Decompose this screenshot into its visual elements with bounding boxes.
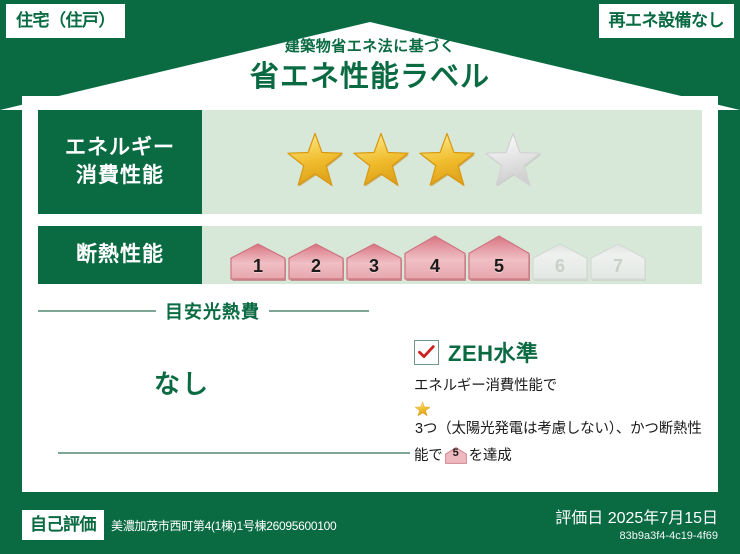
- insulation-performance-label: 断熱性能: [38, 226, 202, 284]
- utility-cost-caption: 目安光熱費: [165, 298, 260, 324]
- energy-performance-row: エネルギー 消費性能: [38, 110, 702, 214]
- inline-house-badge: 5: [445, 447, 467, 464]
- page-title: 省エネ性能ラベル: [0, 59, 740, 95]
- insulation-scale: 1234567: [230, 235, 646, 281]
- check-icon: [418, 345, 435, 359]
- self-evaluation-badge: 自己評価: [22, 510, 104, 540]
- title-subtitle: 建築物省エネ法に基づく: [0, 38, 740, 56]
- utility-cost-header: 目安光熱費: [38, 298, 406, 324]
- tag-building-type: 住宅（住戸）: [6, 4, 125, 38]
- checkbox-checked: [414, 340, 439, 365]
- zeh-description: エネルギー消費性能で3つ（太陽光発電は考慮しない）、かつ断熱性能で5を達成: [414, 375, 706, 468]
- insulation-level-number: 2: [311, 256, 321, 281]
- inline-house-number: 5: [445, 445, 467, 463]
- evaluation-date: 評価日 2025年7月15日: [555, 504, 718, 528]
- rule-right: [269, 310, 369, 312]
- insulation-level-number: 4: [430, 256, 440, 281]
- energy-performance-label: エネルギー 消費性能: [38, 110, 202, 214]
- insulation-level-4: 4: [404, 235, 466, 281]
- star-filled-icon: [416, 131, 478, 193]
- insulation-level-number: 1: [253, 256, 263, 281]
- energy-label-line1: エネルギー: [65, 134, 175, 162]
- zeh-header: ZEH水準: [414, 336, 706, 368]
- tag-renewable-energy: 再エネ設備なし: [599, 4, 735, 38]
- insulation-performance-row: 断熱性能 1234567: [38, 226, 702, 284]
- zeh-desc-part2: 3つ（太陽光発電: [415, 421, 523, 437]
- footer-right: 評価日 2025年7月15日 83b9a3f4-4c19-4f69: [555, 504, 718, 542]
- insulation-level-number: 5: [494, 256, 504, 281]
- evaluation-id: 83b9a3f4-4c19-4f69: [555, 530, 718, 542]
- insulation-level-number: 6: [555, 256, 565, 281]
- star-empty-icon: [482, 131, 544, 193]
- title-block: 建築物省エネ法に基づく 省エネ性能ラベル: [0, 38, 740, 95]
- utility-cost-value: なし: [38, 364, 406, 401]
- zeh-section: ZEH水準 エネルギー消費性能で3つ（太陽光発電は考慮しない）、かつ断熱性能で5…: [414, 336, 706, 468]
- inline-star-icon: [414, 401, 706, 418]
- energy-label-line2: 消費性能: [76, 162, 164, 190]
- insulation-level-1: 1: [230, 243, 286, 281]
- energy-performance-label: 住宅（住戸） 再エネ設備なし 建築物省エネ法に基づく 省エネ性能ラベル エネルギ…: [0, 0, 740, 554]
- star-filled-icon: [284, 131, 346, 193]
- insulation-scale-body: 1234567: [202, 226, 702, 284]
- rule-left: [38, 310, 156, 312]
- insulation-level-6: 6: [532, 243, 588, 281]
- utility-cost-section: 目安光熱費 なし: [38, 294, 406, 478]
- insulation-label-text: 断熱性能: [76, 241, 164, 268]
- zeh-desc-part4: を達成: [469, 448, 512, 464]
- insulation-level-2: 2: [288, 243, 344, 281]
- insulation-level-3: 3: [346, 243, 402, 281]
- insulation-level-number: 3: [369, 256, 379, 281]
- zeh-title: ZEH水準: [448, 336, 539, 368]
- star-filled-icon: [414, 401, 431, 418]
- footer-left: 自己評価 美濃加茂市西町第4(1棟)1号棟26095600100: [22, 510, 336, 540]
- insulation-level-5: 5: [468, 235, 530, 281]
- zeh-desc-part1: エネルギー消費性能で: [414, 378, 557, 394]
- utility-cost-bottom-rule: [58, 452, 410, 454]
- star-rating: [202, 110, 702, 214]
- insulation-level-7: 7: [590, 243, 646, 281]
- main-card: エネルギー 消費性能 断熱性能 1234567 目安光熱費 なし: [22, 98, 718, 492]
- insulation-level-number: 7: [613, 256, 623, 281]
- star-filled-icon: [350, 131, 412, 193]
- property-name: 美濃加茂市西町第4(1棟)1号棟26095600100: [111, 517, 336, 534]
